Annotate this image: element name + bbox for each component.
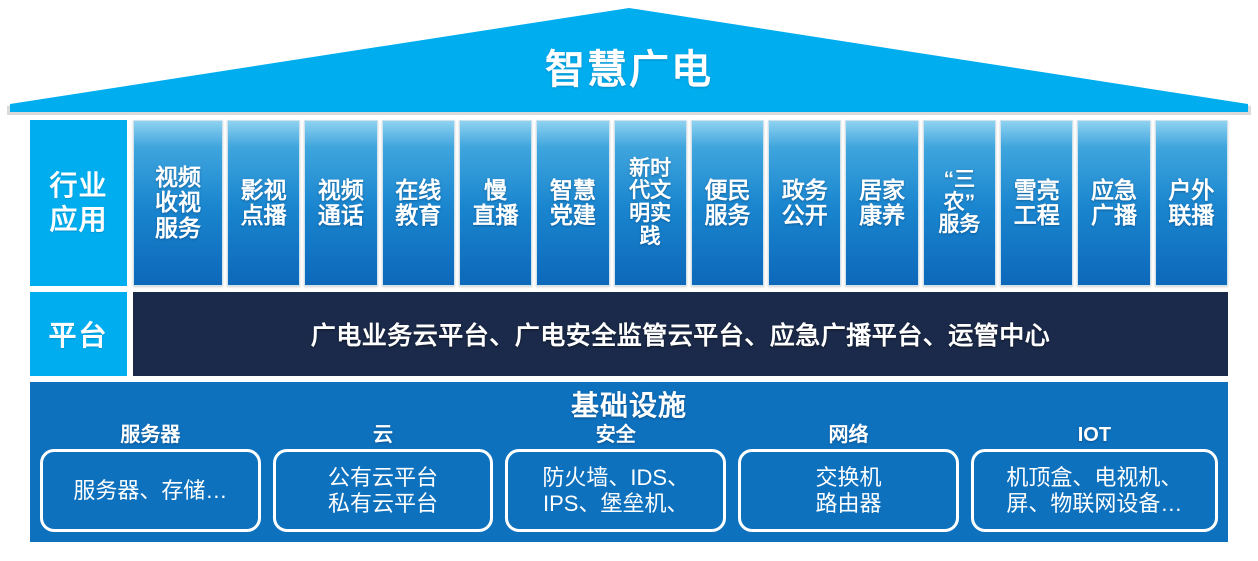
app-cell-label: 视频 收视 服务 xyxy=(155,165,201,241)
infrastructure-category-label: 网络 xyxy=(738,424,959,446)
infrastructure-section: 基础设施 服务器 服务器、存储… 云 公有云平台 私有云平台 安全 防火墙、ID… xyxy=(30,382,1228,542)
infrastructure-category-label: IOT xyxy=(971,424,1218,446)
app-cell-bright-snow-project[interactable]: 雪亮 工程 xyxy=(1000,120,1073,286)
app-cell-label: 视频 通话 xyxy=(318,178,364,229)
infrastructure-box-text: 公有云平台 私有云平台 xyxy=(328,465,438,517)
app-cell-sannong-service[interactable]: “三 农” 服务 xyxy=(923,120,996,286)
app-cell-label: 政务 公开 xyxy=(782,178,828,229)
infrastructure-box-text: 服务器、存储… xyxy=(73,478,227,504)
app-cell-smart-party-building[interactable]: 智慧 党建 xyxy=(536,120,609,286)
infrastructure-box-security[interactable]: 防火墙、IDS、 IPS、堡垒机、 xyxy=(505,449,726,532)
infrastructure-box-text: 防火墙、IDS、 IPS、堡垒机、 xyxy=(542,465,689,517)
app-cell-video-call[interactable]: 视频 通话 xyxy=(304,120,377,286)
page-title: 智慧广电 xyxy=(0,50,1258,90)
infrastructure-box-iot[interactable]: 机顶盒、电视机、 屏、物联网设备… xyxy=(971,449,1218,532)
infrastructure-column-security: 安全 防火墙、IDS、 IPS、堡垒机、 xyxy=(505,424,726,532)
app-cell-label: 新时 代文 明实 践 xyxy=(629,158,671,249)
infrastructure-category-label: 云 xyxy=(273,424,494,446)
app-cell-label: 在线 教育 xyxy=(395,178,441,229)
app-cell-label: 智慧 党建 xyxy=(550,178,596,229)
app-cell-label: 居家 康养 xyxy=(859,178,905,229)
infrastructure-box-text: 机顶盒、电视机、 屏、物联网设备… xyxy=(1006,465,1182,517)
app-cell-label: 影视 点播 xyxy=(241,178,287,229)
app-cell-online-education[interactable]: 在线 教育 xyxy=(382,120,455,286)
industry-application-label: 行业 应用 xyxy=(30,120,127,286)
app-cell-label: 户外 联播 xyxy=(1168,178,1214,229)
infrastructure-box-cloud[interactable]: 公有云平台 私有云平台 xyxy=(273,449,494,532)
platform-bar[interactable]: 广电业务云平台、广电安全监管云平台、应急广播平台、运管中心 xyxy=(133,292,1228,376)
infrastructure-column-cloud: 云 公有云平台 私有云平台 xyxy=(273,424,494,532)
app-cell-label: 便民 服务 xyxy=(704,178,750,229)
infrastructure-title: 基础设施 xyxy=(40,390,1218,422)
infrastructure-category-label: 服务器 xyxy=(40,424,261,446)
platform-label: 平台 xyxy=(30,292,127,376)
application-cells: 视频 收视 服务 影视 点播 视频 通话 在线 教育 慢 直播 智慧 党建 新时… xyxy=(133,120,1228,286)
infrastructure-column-server: 服务器 服务器、存储… xyxy=(40,424,261,532)
app-cell-label: 雪亮 工程 xyxy=(1014,178,1060,229)
app-cell-film-on-demand[interactable]: 影视 点播 xyxy=(227,120,300,286)
app-cell-outdoor-broadcast[interactable]: 户外 联播 xyxy=(1155,120,1228,286)
app-cell-emergency-broadcast[interactable]: 应急 广播 xyxy=(1077,120,1150,286)
platform-text: 广电业务云平台、广电安全监管云平台、应急广播平台、运管中心 xyxy=(311,316,1051,352)
app-cell-slow-live[interactable]: 慢 直播 xyxy=(459,120,532,286)
infrastructure-box-network[interactable]: 交换机 路由器 xyxy=(738,449,959,532)
infrastructure-columns: 服务器 服务器、存储… 云 公有云平台 私有云平台 安全 防火墙、IDS、 IP… xyxy=(40,424,1218,532)
app-cell-home-health-care[interactable]: 居家 康养 xyxy=(845,120,918,286)
app-cell-label: 应急 广播 xyxy=(1091,178,1137,229)
roof-section: 智慧广电 xyxy=(0,0,1258,118)
industry-application-row: 行业 应用 视频 收视 服务 影视 点播 视频 通话 在线 教育 慢 直播 智慧… xyxy=(30,120,1228,286)
app-cell-new-era-civilization-practice[interactable]: 新时 代文 明实 践 xyxy=(614,120,687,286)
infrastructure-column-network: 网络 交换机 路由器 xyxy=(738,424,959,532)
industry-application-label-line1: 行业 xyxy=(49,169,107,203)
smart-broadcasting-architecture-diagram: 智慧广电 行业 应用 视频 收视 服务 影视 点播 视频 通话 在线 教育 慢 … xyxy=(0,0,1258,561)
app-cell-label: 慢 直播 xyxy=(473,178,519,229)
infrastructure-box-text: 交换机 路由器 xyxy=(815,465,881,517)
app-cell-convenience-service[interactable]: 便民 服务 xyxy=(691,120,764,286)
platform-row: 平台 广电业务云平台、广电安全监管云平台、应急广播平台、运管中心 xyxy=(30,292,1228,376)
app-cell-government-affairs-disclosure[interactable]: 政务 公开 xyxy=(768,120,841,286)
app-cell-label: “三 农” 服务 xyxy=(938,169,980,237)
industry-application-label-line2: 应用 xyxy=(49,203,107,237)
infrastructure-column-iot: IOT 机顶盒、电视机、 屏、物联网设备… xyxy=(971,424,1218,532)
app-cell-video-viewing-service[interactable]: 视频 收视 服务 xyxy=(133,120,223,286)
infrastructure-box-server[interactable]: 服务器、存储… xyxy=(40,449,261,532)
infrastructure-category-label: 安全 xyxy=(505,424,726,446)
